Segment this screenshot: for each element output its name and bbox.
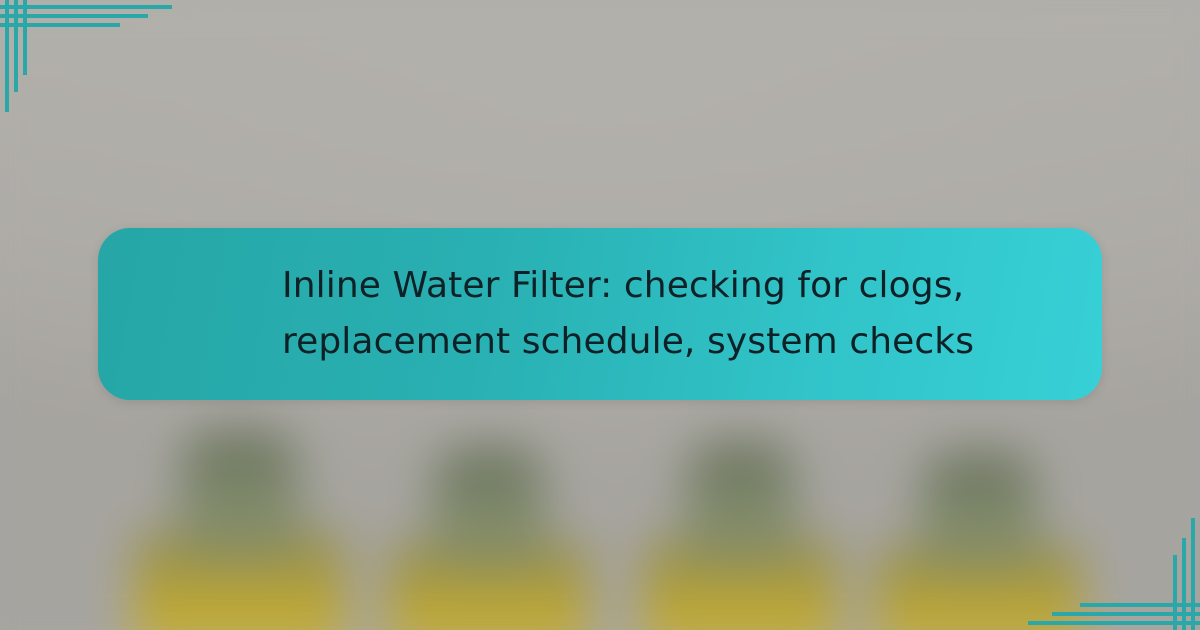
corner-line-vertical-2 [1182,538,1186,630]
background-bottle [134,437,346,630]
corner-line-horizontal-3 [0,23,120,27]
bottle-cap [697,441,783,477]
corner-line-vertical-1 [5,0,9,112]
social-card-canvas: Inline Water Filter: checking for clogs,… [0,0,1200,630]
bottle-cap [933,452,1024,488]
corner-ornament-bottom-right [1010,510,1200,630]
corner-line-horizontal-2 [1052,612,1200,616]
corner-line-vertical-3 [23,0,27,75]
bottle-cap [444,446,533,482]
corner-ornament-top-left [0,0,190,120]
background-bottle [388,453,589,630]
bottle-cap [193,431,286,467]
page-title: Inline Water Filter: checking for clogs,… [98,258,1102,370]
corner-line-vertical-3 [1173,555,1177,630]
headline-banner: Inline Water Filter: checking for clogs,… [98,228,1102,400]
corner-line-vertical-1 [1191,518,1195,630]
corner-line-vertical-2 [14,0,18,92]
background-bottle [642,447,838,630]
